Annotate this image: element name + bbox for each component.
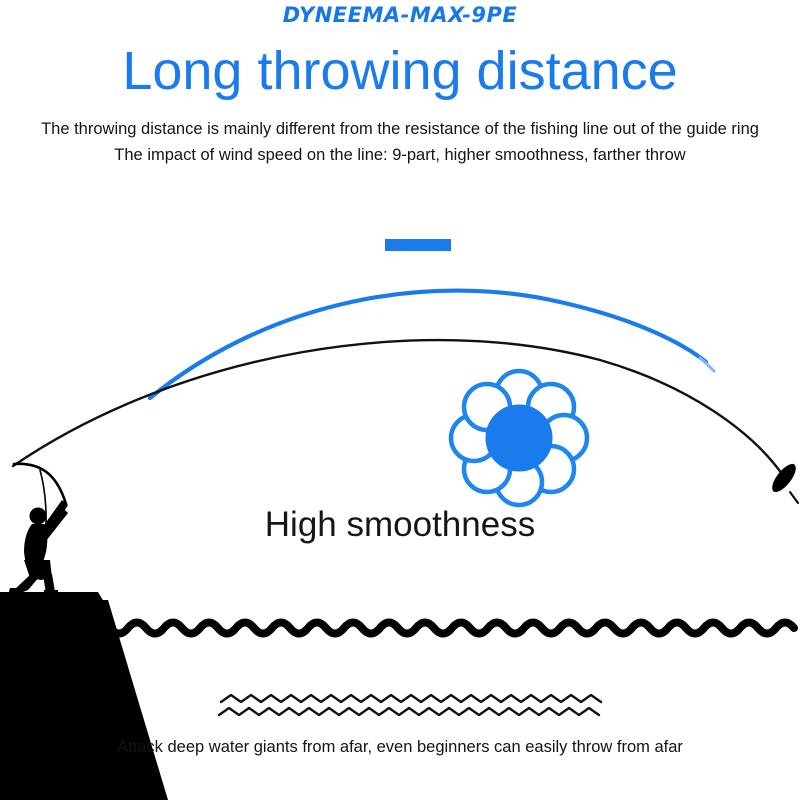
blue-cast-trajectory (150, 291, 706, 398)
flower-center-icon (487, 406, 551, 470)
zigzag-ripple-icon (219, 695, 601, 715)
product-infographic-poster: DYNEEMA-MAX-9PE Long throwing distance T… (0, 0, 800, 800)
black-cast-trajectory (13, 340, 782, 474)
blue-cast-trajectory-tail (700, 358, 714, 371)
footer-caption: Attack deep water giants from afar, even… (0, 738, 800, 757)
wavy-water-line-icon (92, 623, 794, 634)
lure-sinker-icon (768, 460, 800, 503)
casting-scene-illustration (0, 0, 800, 800)
flower-icon (448, 368, 590, 508)
feature-label: High smoothness (0, 505, 800, 545)
